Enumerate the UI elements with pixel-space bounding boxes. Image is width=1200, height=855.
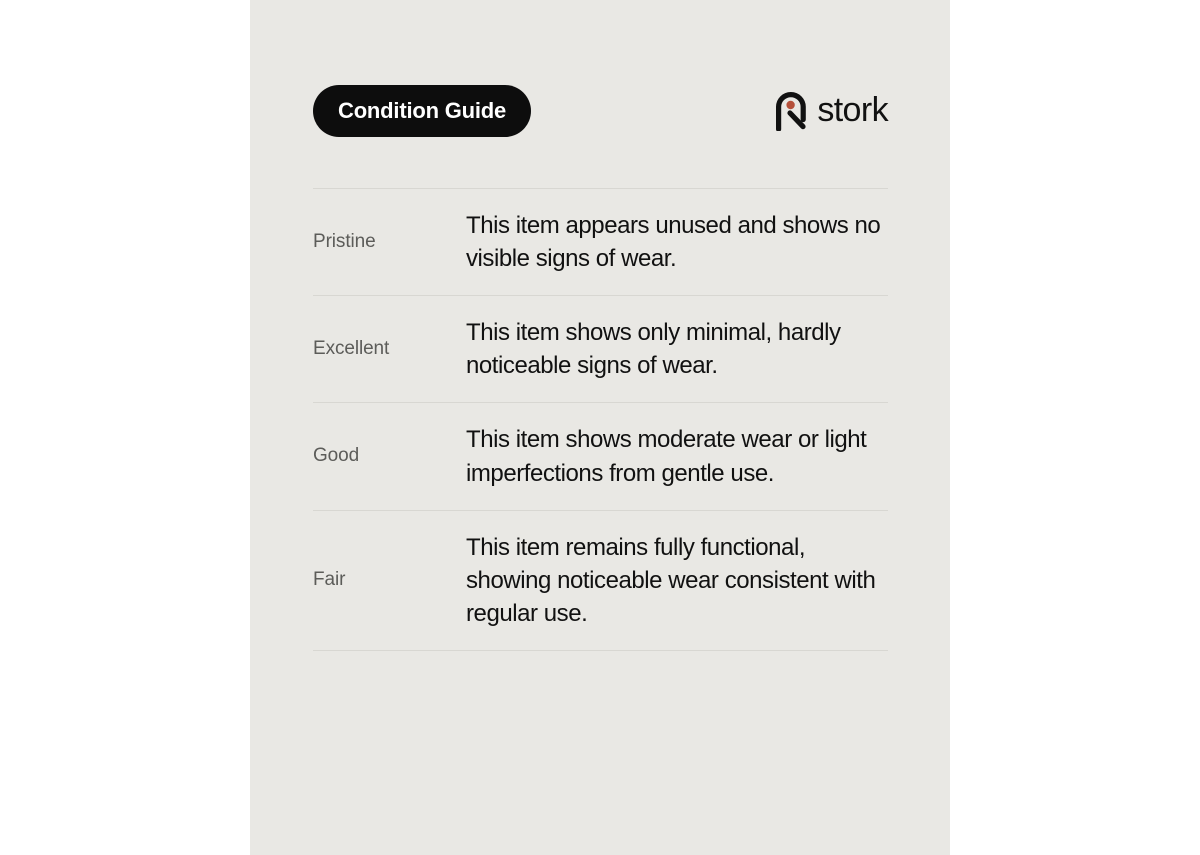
stork-logo-icon	[774, 91, 808, 131]
condition-description: This item shows only minimal, hardly not…	[466, 316, 881, 382]
page-root: Condition Guide stork Pristine This item…	[0, 0, 1200, 855]
table-row: Pristine This item appears unused and sh…	[313, 189, 888, 296]
condition-label: Good	[313, 445, 466, 468]
brand-name: stork	[817, 93, 888, 127]
page-title: Condition Guide	[338, 100, 506, 122]
condition-guide-card: Condition Guide stork Pristine This item…	[250, 0, 950, 855]
table-row: Excellent This item shows only minimal, …	[313, 296, 888, 403]
card-header: Condition Guide stork	[313, 85, 888, 137]
condition-label: Pristine	[313, 231, 466, 254]
condition-label: Fair	[313, 569, 466, 592]
brand-logo: stork	[774, 85, 888, 137]
condition-guide-title-pill: Condition Guide	[313, 85, 531, 137]
table-row: Fair This item remains fully functional,…	[313, 511, 888, 651]
condition-description: This item appears unused and shows no vi…	[466, 209, 881, 275]
condition-description: This item remains fully functional, show…	[466, 531, 881, 630]
condition-description: This item shows moderate wear or light i…	[466, 423, 881, 489]
condition-label: Excellent	[313, 338, 466, 361]
table-row: Good This item shows moderate wear or li…	[313, 403, 888, 510]
condition-guide-table: Pristine This item appears unused and sh…	[313, 188, 888, 651]
